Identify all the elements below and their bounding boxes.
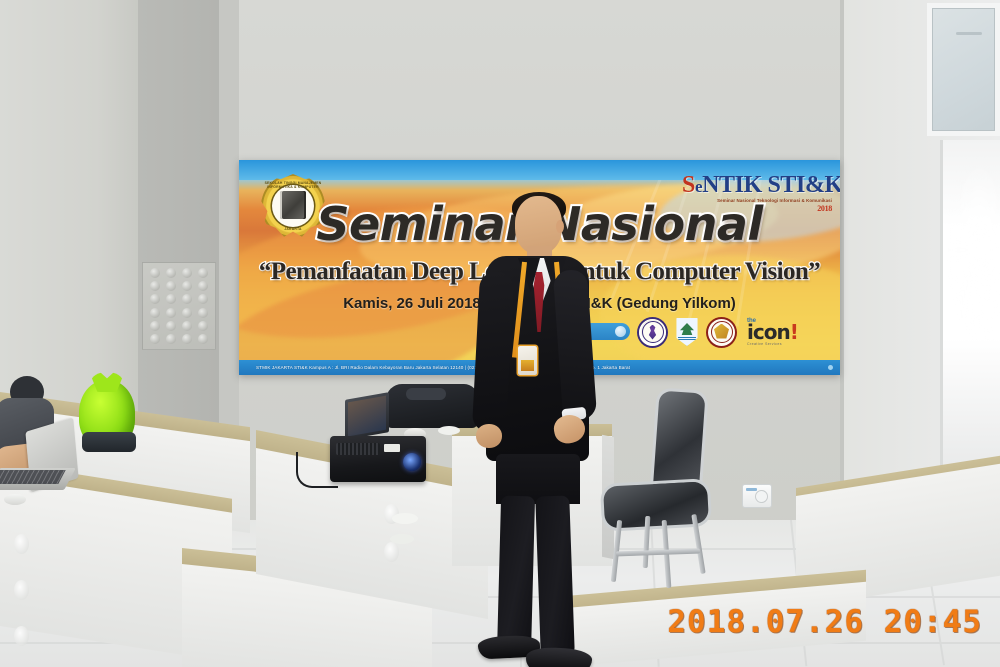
projector-lens-icon xyxy=(403,453,421,471)
photo-canvas: SEKOLAH TINGGI MANAJEMEN INFORMATIKA & K… xyxy=(0,0,1000,667)
backpack-strap xyxy=(406,388,446,400)
wall-corner-shadow xyxy=(840,0,844,560)
chrome-banquet-chair xyxy=(604,392,722,590)
laptop-silver-keyboard xyxy=(0,470,66,484)
presenter-leg-right xyxy=(535,495,574,654)
sentik-logo-main: SeNTIK STI&K xyxy=(682,173,832,199)
icon-creative-logo: the icon! Creative Services xyxy=(744,318,798,347)
chair-rail xyxy=(616,549,700,557)
window-glare xyxy=(948,160,1000,340)
projector-vent xyxy=(336,443,380,455)
strip-dot-icon xyxy=(828,365,833,370)
laptop-black-screen xyxy=(345,392,389,440)
presenter-shoe-right xyxy=(525,646,592,667)
univ-seal-icon xyxy=(639,319,666,346)
presenter-id-badge xyxy=(518,346,537,375)
mouse-left xyxy=(4,494,26,505)
paper-on-desk xyxy=(390,534,414,544)
oleh-knob-icon xyxy=(615,326,626,337)
black-backpack xyxy=(386,384,478,428)
chair-backrest xyxy=(652,391,705,498)
sentik-letter-s: S xyxy=(682,172,695,198)
wall-power-outlet xyxy=(743,485,771,507)
tactile-braille-wall-panel xyxy=(142,262,216,350)
seal-top-text: SEKOLAH TINGGI MANAJEMEN INFORMATIKA & K… xyxy=(261,181,325,189)
dark-bag-under-green xyxy=(82,432,136,452)
icon-logo-word: icon! xyxy=(747,323,798,342)
icon-logo-tagline: Creative Services xyxy=(747,343,782,347)
paper-on-desk xyxy=(392,513,418,524)
projector xyxy=(330,436,426,482)
presenter-ear xyxy=(556,220,564,233)
camera-timestamp: 2018.07.26 20:45 xyxy=(667,604,982,640)
gunadarma-seal-icon xyxy=(708,319,735,346)
presenter-leg-left xyxy=(497,496,535,657)
sentik-rest: NTIK STI&K xyxy=(702,172,840,198)
projector-label xyxy=(384,444,400,452)
paper-on-desk xyxy=(438,426,460,435)
transom-window xyxy=(927,3,1000,136)
sponsor-logo-row: the icon! Creative Services xyxy=(639,318,798,346)
presenter xyxy=(470,196,600,656)
dki-jakarta-seal-icon xyxy=(675,318,699,346)
presenter-hand-left xyxy=(476,424,502,448)
